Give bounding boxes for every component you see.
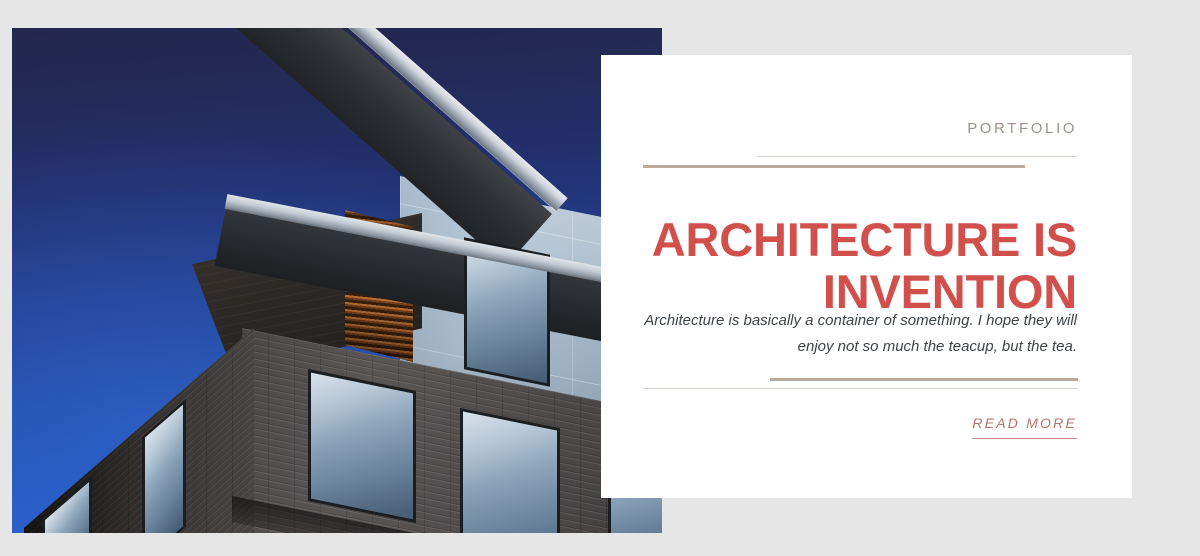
window: [308, 369, 416, 523]
eyebrow-label: PORTFOLIO: [967, 120, 1077, 137]
divider-bottom-thick: [770, 378, 1078, 381]
content-card-inner: PORTFOLIO ARCHITECTURE IS INVENTION Arch…: [643, 55, 1077, 498]
window-gloss: [311, 373, 413, 520]
body-paragraph: Architecture is basically a container of…: [643, 308, 1077, 360]
divider-top-thin: [757, 156, 1077, 157]
hero-image: [12, 28, 662, 533]
divider-top-thick: [643, 165, 1025, 168]
window: [460, 408, 560, 533]
read-more-link[interactable]: READ MORE: [972, 415, 1077, 439]
content-card: PORTFOLIO ARCHITECTURE IS INVENTION Arch…: [601, 55, 1132, 498]
page-title: ARCHITECTURE IS INVENTION: [643, 214, 1077, 318]
divider-bottom-thin: [643, 388, 1078, 389]
window-gloss: [463, 411, 557, 533]
hero-stage: PORTFOLIO ARCHITECTURE IS INVENTION Arch…: [0, 0, 1200, 556]
